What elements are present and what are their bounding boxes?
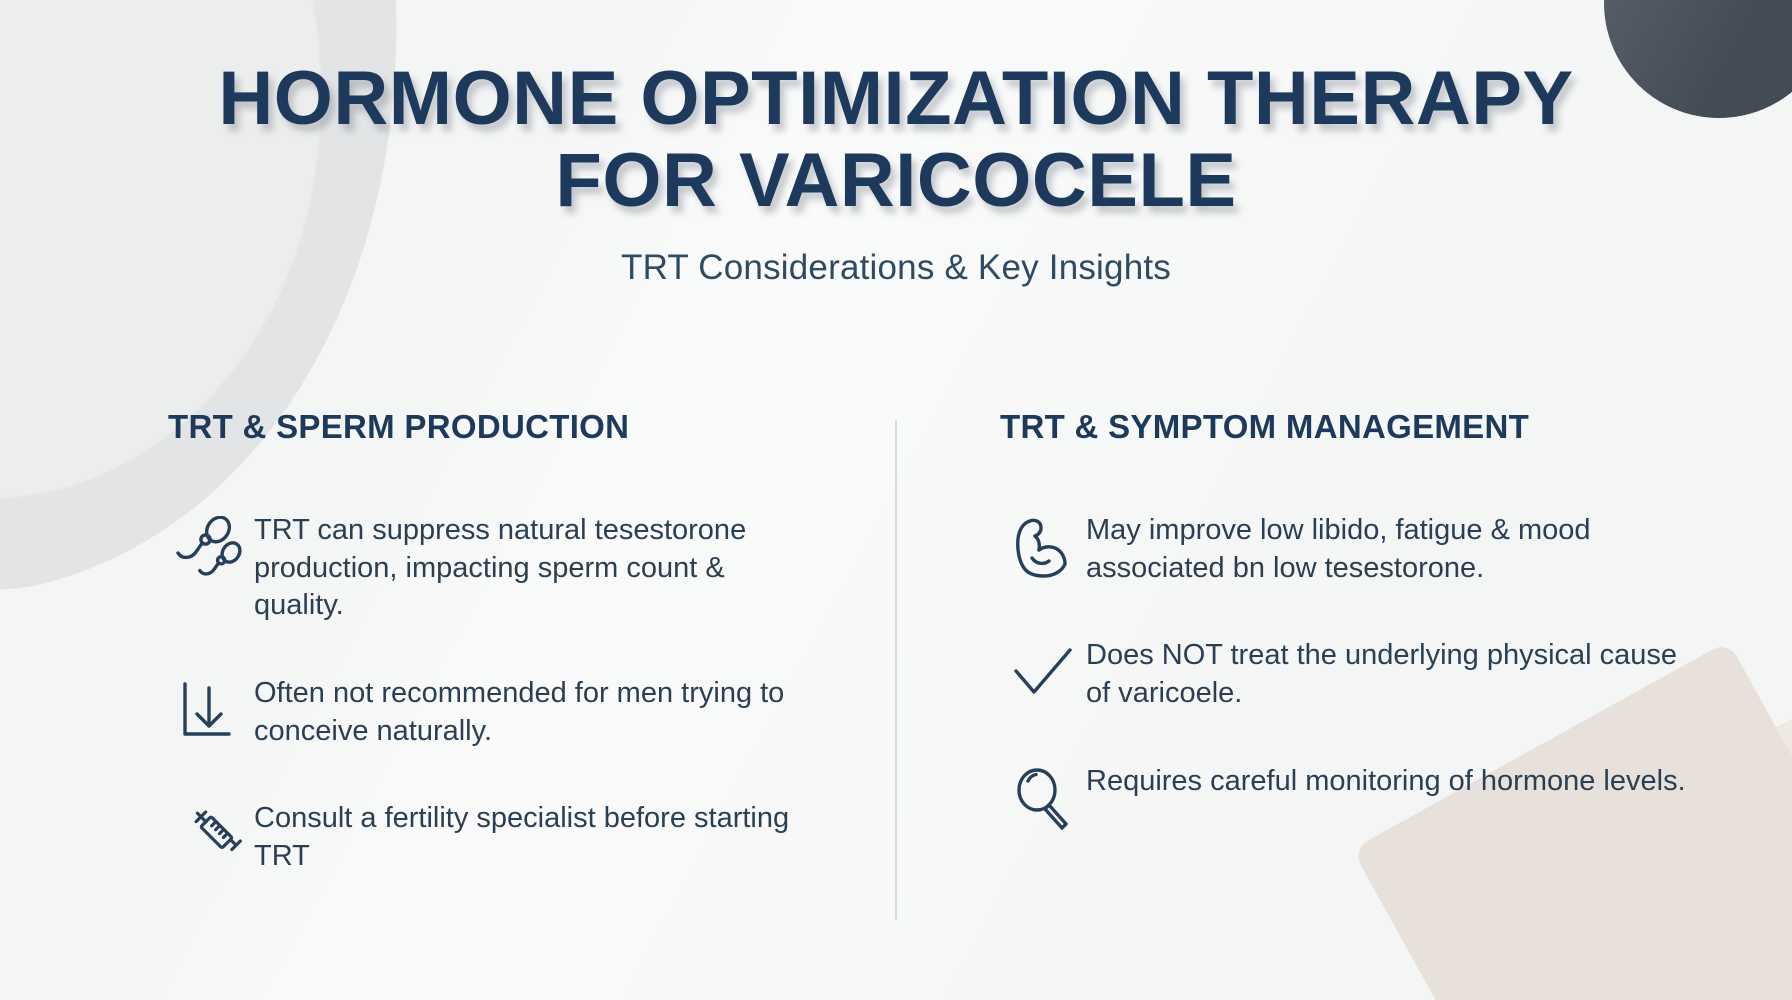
column-symptom-management: TRT & SYMPTOM MANAGEMENT May improve low… — [880, 408, 1760, 876]
title-block: HORMONE OPTIMIZATION THERAPY FOR VARICOC… — [0, 0, 1792, 288]
page-subtitle: TRT Considerations & Key Insights — [0, 248, 1792, 288]
list-item-text: TRT can suppress natural tesestorone pro… — [254, 510, 820, 625]
title-line-2: FOR VARICOCELE — [0, 140, 1792, 222]
flexed-bicep-icon — [1000, 510, 1086, 584]
list-item: Consult a fertility specialist before st… — [168, 798, 820, 875]
list-item-text: Often not recommended for men trying to … — [254, 673, 820, 750]
infographic-poster: HORMONE OPTIMIZATION THERAPY FOR VARICOC… — [0, 0, 1792, 1000]
list-item-text: Does NOT treat the underlying physical c… — [1086, 635, 1706, 712]
checkmark-icon — [1000, 635, 1086, 709]
column-sperm-production: TRT & SPERM PRODUCTION TRT can suppress … — [0, 408, 880, 876]
list-item-text: Consult a fertility specialist before st… — [254, 798, 820, 875]
arrow-down-icon — [168, 673, 254, 747]
title-line-1: HORMONE OPTIMIZATION THERAPY — [218, 56, 1573, 141]
list-item: May improve low libido, fatigue & mood a… — [1000, 510, 1720, 587]
list-item-text: May improve low libido, fatigue & mood a… — [1086, 510, 1706, 587]
list-item-text: Requires careful monitoring of hormone l… — [1086, 761, 1686, 801]
list-item: Requires careful monitoring of hormone l… — [1000, 761, 1720, 835]
magnifying-glass-icon — [1000, 761, 1086, 835]
page-title: HORMONE OPTIMIZATION THERAPY FOR VARICOC… — [0, 58, 1792, 222]
columns-container: TRT & SPERM PRODUCTION TRT can suppress … — [0, 408, 1792, 876]
syringe-icon — [168, 798, 254, 872]
list-item: Does NOT treat the underlying physical c… — [1000, 635, 1720, 712]
column-heading-right: TRT & SYMPTOM MANAGEMENT — [1000, 408, 1720, 446]
list-item: TRT can suppress natural tesestorone pro… — [168, 510, 820, 625]
list-item: Often not recommended for men trying to … — [168, 673, 820, 750]
sperm-icon — [168, 510, 254, 584]
poster-content: HORMONE OPTIMIZATION THERAPY FOR VARICOC… — [0, 0, 1792, 1000]
column-heading-left: TRT & SPERM PRODUCTION — [168, 408, 820, 446]
